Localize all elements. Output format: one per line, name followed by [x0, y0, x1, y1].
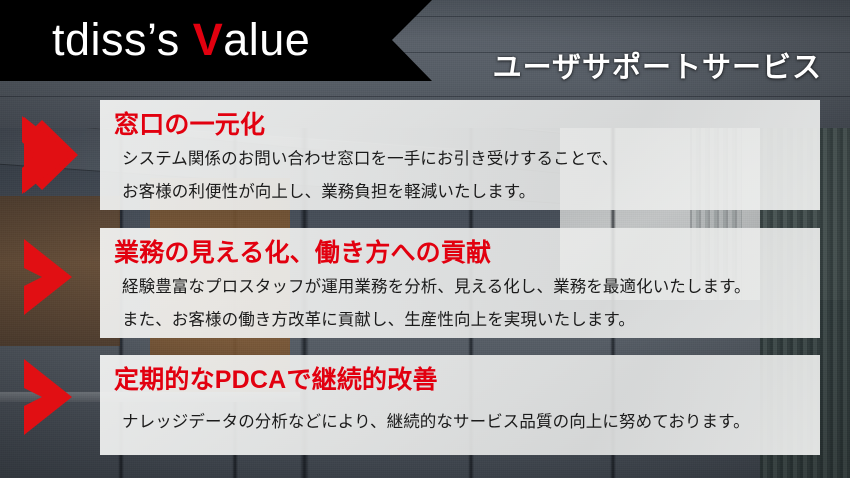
title-prefix: tdiss’s — [52, 14, 193, 65]
content-panel: 定期的なPDCAで継続的改善 ナレッジデータの分析などにより、継続的なサービス品… — [100, 355, 820, 455]
panel-heading: 定期的なPDCAで継続的改善 — [114, 365, 438, 395]
page-subtitle: ユーザサポートサービス — [493, 51, 822, 85]
page-title: tdiss’s Value — [52, 11, 310, 69]
title-suffix: alue — [223, 14, 310, 65]
panel-body-line: また、お客様の働き方改革に貢献し、生産性向上を実現いたします。 — [122, 310, 635, 331]
panel-body-line: ナレッジデータの分析などにより、継続的なサービス品質の向上に努めております。 — [122, 412, 750, 433]
slide-root: tdiss’s Value ユーザサポートサービス 窓口の一元化 システム関係の… — [0, 0, 850, 478]
content-panel: 業務の見える化、働き方への貢献 経験豊富なプロスタッフが運用業務を分析、見える化… — [100, 228, 820, 338]
panel-heading: 業務の見える化、働き方への貢献 — [114, 238, 491, 268]
panel-body-line: 経験豊富なプロスタッフが運用業務を分析、見える化し、業務を最適化いたします。 — [122, 277, 751, 298]
content-panel: 窓口の一元化 システム関係のお問い合わせ窓口を一手にお引き受けすることで、 お客… — [100, 100, 820, 210]
red-chevron-arrow-icon — [22, 358, 94, 436]
title-accent-letter: V — [193, 14, 224, 65]
panel-body-line: お客様の利便性が向上し、業務負担を軽減いたします。 — [122, 182, 535, 203]
red-chevron-arrow-icon — [22, 116, 94, 194]
red-chevron-arrow-icon — [22, 238, 94, 316]
panel-body-line: システム関係のお問い合わせ窓口を一手にお引き受けすることで、 — [122, 149, 618, 170]
panel-heading: 窓口の一元化 — [114, 110, 265, 140]
